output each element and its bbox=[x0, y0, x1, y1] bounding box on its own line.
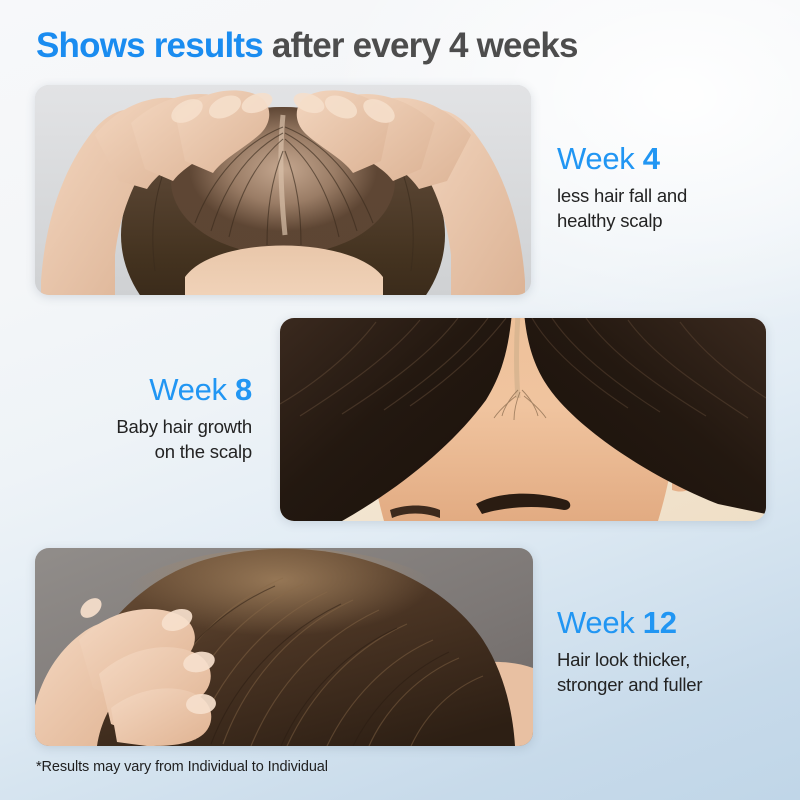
caption-week12-title: Week 12 bbox=[557, 605, 792, 641]
photo-card-week12 bbox=[35, 548, 533, 746]
caption-week4-title: Week 4 bbox=[557, 141, 787, 177]
photo-card-week4 bbox=[35, 85, 531, 295]
caption-week8-number: 8 bbox=[235, 372, 252, 407]
caption-week12: Week 12 Hair look thicker, stronger and … bbox=[557, 605, 792, 697]
caption-week12-description: Hair look thicker, stronger and fuller bbox=[557, 647, 792, 697]
caption-week4-number: 4 bbox=[643, 141, 660, 176]
disclaimer-text: *Results may vary from Individual to Ind… bbox=[36, 758, 328, 776]
photo-week8-center-part bbox=[280, 318, 766, 521]
caption-week8: Week 8 Baby hair growth on the scalp bbox=[20, 372, 252, 464]
promo-poster: Shows results after every 4 weeks bbox=[0, 0, 800, 800]
caption-week8-title: Week 8 bbox=[20, 372, 252, 408]
photo-week4-thinning-scalp bbox=[35, 85, 531, 295]
caption-week12-label: Week bbox=[557, 605, 643, 640]
caption-week4-description: less hair fall and healthy scalp bbox=[557, 183, 787, 233]
page-title-highlight: Shows results bbox=[36, 26, 263, 65]
page-title-rest: after every 4 weeks bbox=[263, 26, 578, 65]
photo-week12-thick-hair bbox=[35, 548, 533, 746]
caption-week8-description: Baby hair growth on the scalp bbox=[20, 414, 252, 464]
caption-week4-label: Week bbox=[557, 141, 643, 176]
page-title: Shows results after every 4 weeks bbox=[36, 25, 578, 67]
caption-week8-label: Week bbox=[149, 372, 235, 407]
caption-week12-number: 12 bbox=[643, 605, 677, 640]
photo-card-week8 bbox=[280, 318, 766, 521]
caption-week4: Week 4 less hair fall and healthy scalp bbox=[557, 141, 787, 233]
